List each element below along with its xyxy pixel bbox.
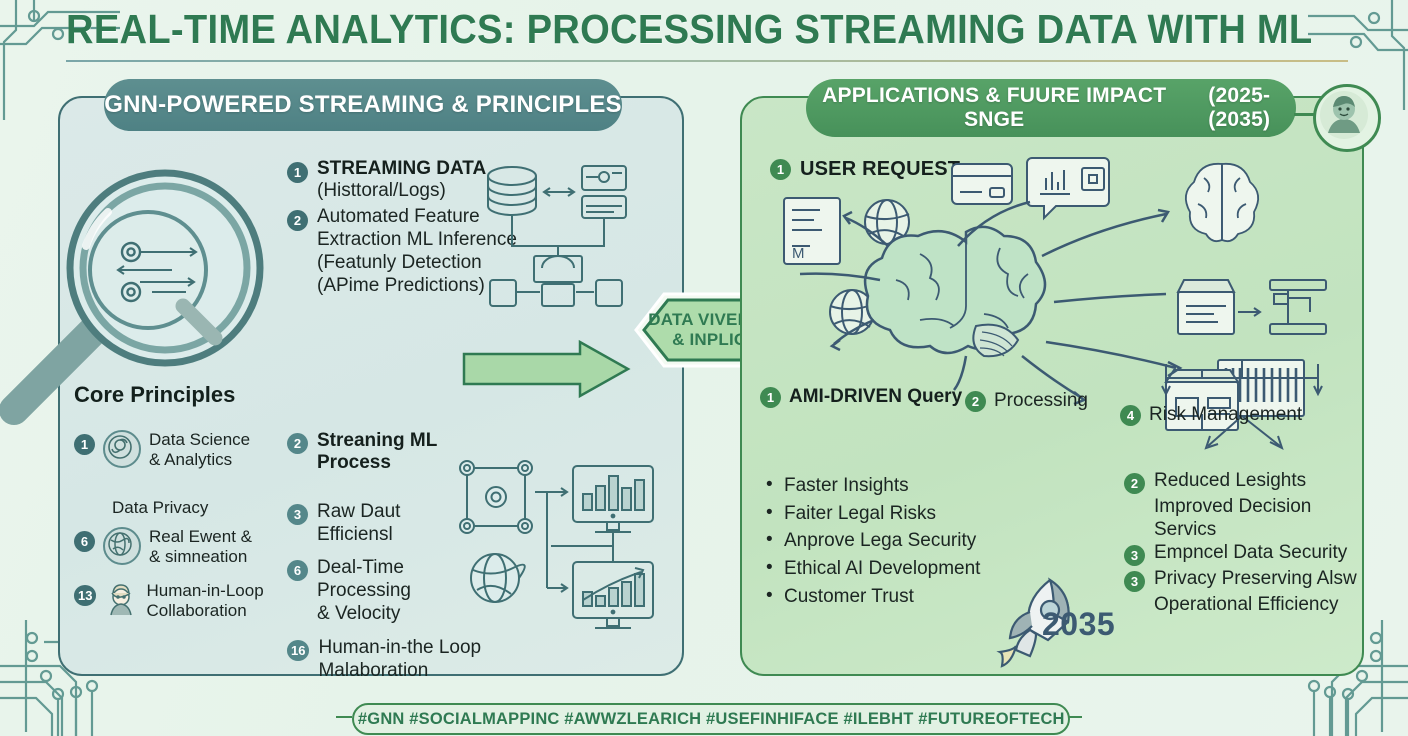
outcome-label: Empncel Data Security [1154,542,1347,564]
page-title: REAL-TIME ANALYTICS: PROCESSING STREAMIN… [66,8,1266,51]
step-text: STREAMING DATA (Histtoral/Logs) [317,158,486,203]
flow-label: Risk Management [1149,404,1302,426]
data-science-icon [103,430,141,468]
process-line: Efficiensl [317,524,393,545]
title-divider [66,60,1348,62]
infographic-canvas: REAL-TIME ANALYTICS: PROCESSING STREAMIN… [0,0,1408,736]
principle-label: Human-in-Loop Collaboration [146,581,263,620]
benefit-item: Faster Insights [766,472,1036,500]
step-number-badge: 1 [287,162,308,183]
footer-hashtags-bar: #GNN #SOCIALMAPPINC #AWWZLEARICH #USEFIN… [352,703,1070,735]
flow-item-risk-management: 4 Risk Management [1120,404,1302,426]
outcome-subtext: Operational Efficiency [1154,594,1376,617]
outcome-label: Privacy Preserving Alsw [1154,568,1357,590]
process-number-badge: 2 [287,433,308,454]
flow-label: AMI-DRIVEN Query [789,386,962,408]
process-number-badge: 3 [287,504,308,525]
data-privacy-note: Data Privacy [112,498,208,518]
step-line: (APime Predictions) [317,275,485,296]
outcome-number-badge: 3 [1124,545,1145,566]
magnifier-illustration [0,140,290,405]
page-title-block: REAL-TIME ANALYTICS: PROCESSING STREAMIN… [66,8,1356,62]
principle-line: & simneation [149,547,247,566]
principle-label: Data Science & Analytics [149,430,250,469]
avatar [1313,84,1381,152]
process-line: Malaboration [318,660,428,681]
footer-hashtags: #GNN #SOCIALMAPPINC #AWWZLEARICH #USEFIN… [358,709,1065,729]
process-number-badge: 16 [287,640,309,661]
step-line: (Histtoral/Logs) [317,180,446,201]
left-panel-header: GNN-POWERED STREAMING & PRINCIPLES [104,79,622,131]
outcome-item: 3 Empncel Data Security [1124,542,1376,566]
footer-tick-left [336,716,352,718]
principle-line: Real Ewent & [149,527,252,546]
rocket-year-label: 2035 [1042,606,1115,643]
outcome-label: Reduced Lesights [1154,470,1306,492]
outcomes-list: 2 Reduced Lesights Improved Decision Ser… [1124,470,1376,616]
flow-label: Processing [994,390,1088,412]
process-label: Raw Daut Efficiensl [317,501,400,547]
principle-item: 13 Human-in-Loop Collaboration [74,581,274,620]
globe-icon [103,527,141,565]
core-principles-title: Core Principles [74,382,235,408]
benefit-item: Anprove Lega Security [766,527,1036,555]
flow-item-query: 1 AMI-DRIVEN Query [760,386,962,408]
analytics-dashboard-illustration [455,458,660,653]
principle-number-badge: 1 [74,434,95,455]
outcome-number-badge: 2 [1124,473,1145,494]
principle-item: 6 Real Ewent & & simneation [74,527,274,566]
principle-line: Human-in-Loop [146,581,263,600]
flow-arrow-icon [462,340,632,398]
right-panel-header: APPLICATIONS & FUURE IMPACT SNGE (2025-(… [806,79,1296,137]
flow-number-badge: 4 [1120,405,1141,426]
svg-text:M: M [792,245,805,262]
principle-label: Real Ewent & & simneation [149,527,252,566]
step-line: (Featunly Detection [317,252,482,273]
principle-line: Collaboration [146,601,246,620]
outcome-item: 3 Privacy Preserving Alsw [1124,568,1376,592]
flow-number-badge: 2 [965,391,986,412]
person-icon [104,581,138,617]
principle-item: 1 Data Science & Analytics [74,430,274,469]
outcome-number-badge: 3 [1124,571,1145,592]
principle-line: & Analytics [149,450,232,469]
process-line: Raw Daut [317,501,400,522]
database-pipeline-illustration [482,160,632,310]
right-header-line-2: (2025-(2035) [1182,84,1296,131]
process-line: & Velocity [317,603,400,624]
outcome-item: 2 Reduced Lesights [1124,470,1376,494]
outcome-subtext: Improved Decision Servics [1154,496,1376,542]
step-line: Automated Feature [317,206,480,227]
principle-number-badge: 13 [74,585,96,606]
process-number-badge: 6 [287,560,308,581]
flow-number-badge: 1 [760,387,781,408]
step-line: STREAMING DATA [317,158,486,179]
benefit-item: Faiter Legal Risks [766,500,1036,528]
core-principles-list: 1 Data Science & Analytics 6 [74,430,274,634]
principle-number-badge: 6 [74,531,95,552]
right-header-line-1: APPLICATIONS & FUURE IMPACT SNGE [806,84,1182,131]
process-line: Deal-Time Processing [317,557,411,601]
principle-line: Data Science [149,430,250,449]
step-number-badge: 2 [287,210,308,231]
flow-item-processing: 2 Processing [965,390,1088,412]
